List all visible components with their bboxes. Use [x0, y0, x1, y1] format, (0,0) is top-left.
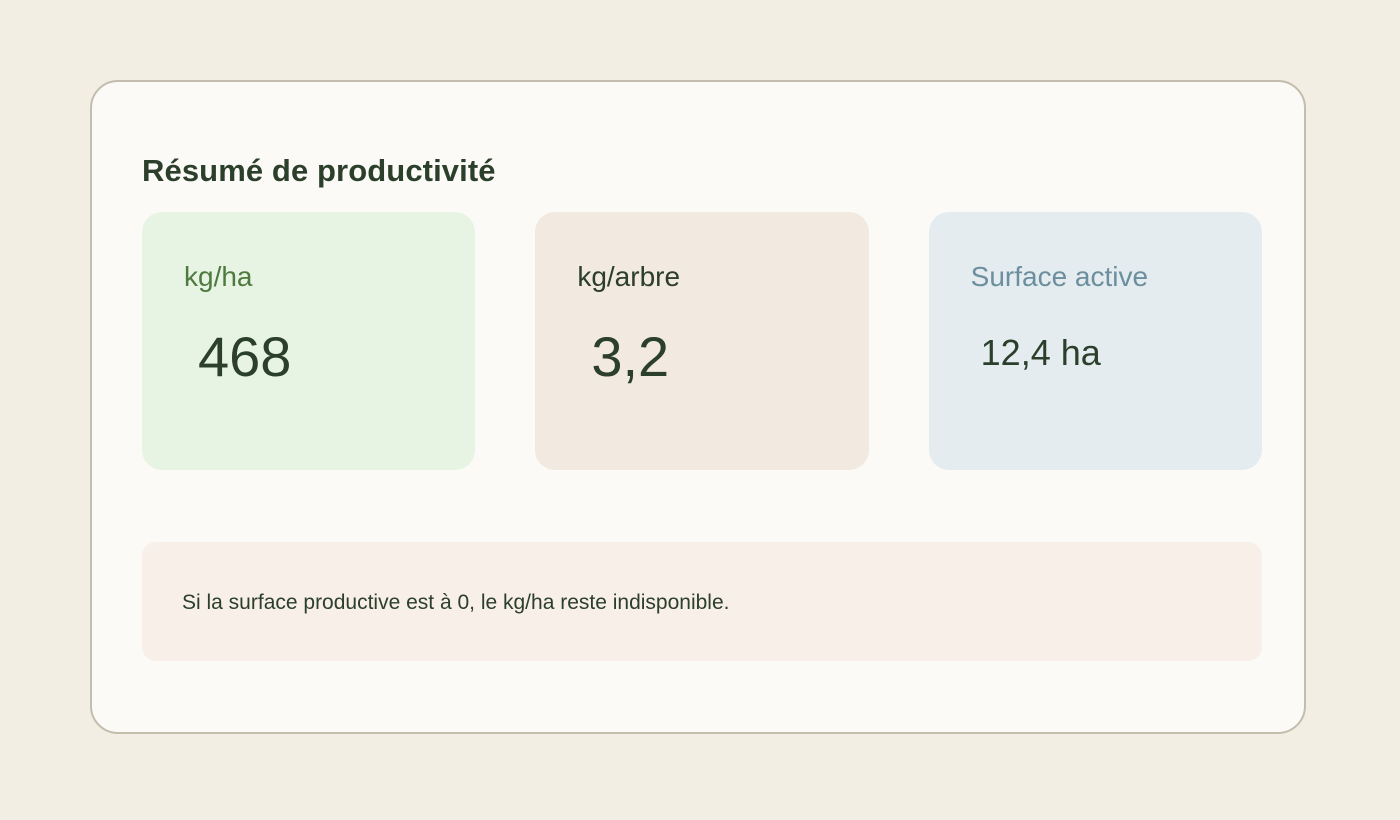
metric-card-active-surface: Surface active 12,4 ha — [929, 212, 1262, 470]
metric-card-kg-per-tree: kg/arbre 3,2 — [535, 212, 868, 470]
metric-card-row: kg/ha 468 kg/arbre 3,2 Surface active 12… — [142, 212, 1262, 470]
info-note-text: Si la surface productive est à 0, le kg/… — [182, 590, 729, 616]
productivity-summary-screen: Résumé de productivité kg/ha 468 kg/arbr… — [0, 0, 1400, 820]
metric-value-kg-per-ha: 468 — [198, 324, 291, 390]
productivity-summary-panel: Résumé de productivité kg/ha 468 kg/arbr… — [90, 80, 1306, 734]
metric-label-kg-per-tree: kg/arbre — [577, 260, 680, 294]
metric-label-kg-per-ha: kg/ha — [184, 260, 253, 294]
metric-value-active-surface: 12,4 ha — [981, 332, 1101, 374]
metric-label-active-surface: Surface active — [971, 260, 1148, 294]
metric-card-kg-per-ha: kg/ha 468 — [142, 212, 475, 470]
page-title: Résumé de productivité — [142, 153, 496, 189]
metric-value-kg-per-tree: 3,2 — [591, 324, 669, 390]
info-note-banner: Si la surface productive est à 0, le kg/… — [142, 542, 1262, 661]
